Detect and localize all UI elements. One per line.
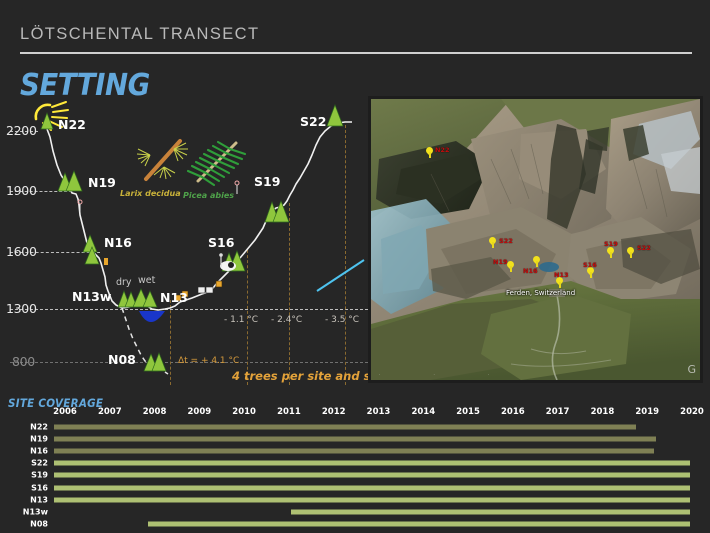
coverage-bar-n13w[interactable] [291,509,690,514]
slide-root: LÖTSCHENTAL TRANSECT SETTING 2200 1900 1… [0,0,710,533]
coverage-row-label-s19: S19 [4,471,48,480]
coverage-row-label-n08: N08 [4,519,48,528]
site-label-s19: S19 [254,174,280,189]
moisture-label-dry: dry [116,277,132,288]
coverage-bar-n08[interactable] [148,521,690,526]
delta-t-label: Δt = + 4.1 °C [178,356,239,366]
coverage-bar-n16[interactable] [54,449,654,454]
satellite-canvas: N22 S22 N19 N16 N13 [371,99,700,380]
map-pin-s22-left[interactable] [489,237,496,248]
pin-tail-icon [429,152,431,158]
coverage-bar-n22[interactable] [54,425,636,430]
satellite-place-label: Ferden, Switzerland [506,289,575,297]
map-pin-label-s22-left: S22 [499,237,513,245]
map-pin-n22[interactable] [426,147,433,158]
map-pin-label-n13: N13 [554,271,569,279]
pin-tail-icon [590,272,592,278]
site-label-n08: N08 [108,352,136,367]
year-label-2019: 2019 [635,407,659,417]
year-label-2009: 2009 [188,407,212,417]
map-pin-label-s19: S19 [604,240,618,248]
pin-tail-icon [492,242,494,248]
site-label-n13w: N13w [72,289,111,304]
temp-offset-3: - 3.5 °C [325,315,359,325]
map-pin-n16[interactable] [533,256,540,267]
year-label-2017: 2017 [546,407,570,417]
temp-offset-1: - 1.1 °C [224,315,258,325]
scale-bar: · · · [379,372,515,377]
map-pin-label-s22: S22 [637,244,651,252]
page-title: LÖTSCHENTAL TRANSECT [20,25,259,44]
coverage-bar-s22[interactable] [54,461,690,466]
year-label-2014: 2014 [411,407,435,417]
year-label-2011: 2011 [277,407,301,417]
satellite-image[interactable]: N22 S22 N19 N16 N13 [368,96,703,383]
coverage-bar-s16[interactable] [54,485,690,490]
coverage-row-label-n19: N19 [4,435,48,444]
picea-abies-icon [186,135,250,189]
coverage-row-label-s22: S22 [4,459,48,468]
year-label-2013: 2013 [367,407,391,417]
pin-tail-icon [559,282,561,288]
map-pin-s19[interactable] [607,247,614,258]
map-pin-s22[interactable] [627,247,634,258]
header-divider [20,52,692,54]
coverage-row-label-n22: N22 [4,423,48,432]
year-label-2015: 2015 [456,407,480,417]
site-label-s16: S16 [208,235,234,250]
pin-tail-icon [630,252,632,258]
google-logo: G [687,363,696,376]
year-label-2016: 2016 [501,407,525,417]
species-label-picea: Picea abies [183,191,234,200]
coverage-row-label-s16: S16 [4,483,48,492]
year-label-2007: 2007 [98,407,122,417]
site-label-n22: N22 [58,117,86,132]
year-label-2012: 2012 [322,407,346,417]
coverage-row-label-n13: N13 [4,495,48,504]
site-label-n19: N19 [88,175,116,190]
map-pin-label-s16: S16 [583,261,597,269]
year-label-2006: 2006 [53,407,77,417]
coverage-bar-n19[interactable] [54,437,656,442]
year-label-2010: 2010 [232,407,256,417]
map-pin-n19[interactable] [507,261,514,272]
year-label-2008: 2008 [143,407,167,417]
pin-tail-icon [610,252,612,258]
year-label-2020: 2020 [680,407,704,417]
map-pin-label-n19: N19 [493,258,508,266]
map-pin-label-n16: N16 [523,267,538,275]
coverage-row-label-n16: N16 [4,447,48,456]
temp-offset-2: - 2.4°C [271,315,302,325]
moisture-label-wet: wet [138,275,155,286]
map-pin-label-n22: N22 [435,146,450,154]
site-label-n13: N13 [160,290,188,305]
coverage-row-label-n13w: N13w [4,507,48,516]
coverage-bar-s19[interactable] [54,473,690,478]
species-label-larix: Larix decidua [120,189,181,198]
year-label-2018: 2018 [591,407,615,417]
elevation-profile-panel: 2200 1900 1600 1300 800 [0,95,368,385]
site-label-s22: S22 [300,114,326,129]
site-label-n16: N16 [104,235,132,250]
pin-tail-icon [510,266,512,272]
coverage-bar-n13[interactable] [54,497,690,502]
